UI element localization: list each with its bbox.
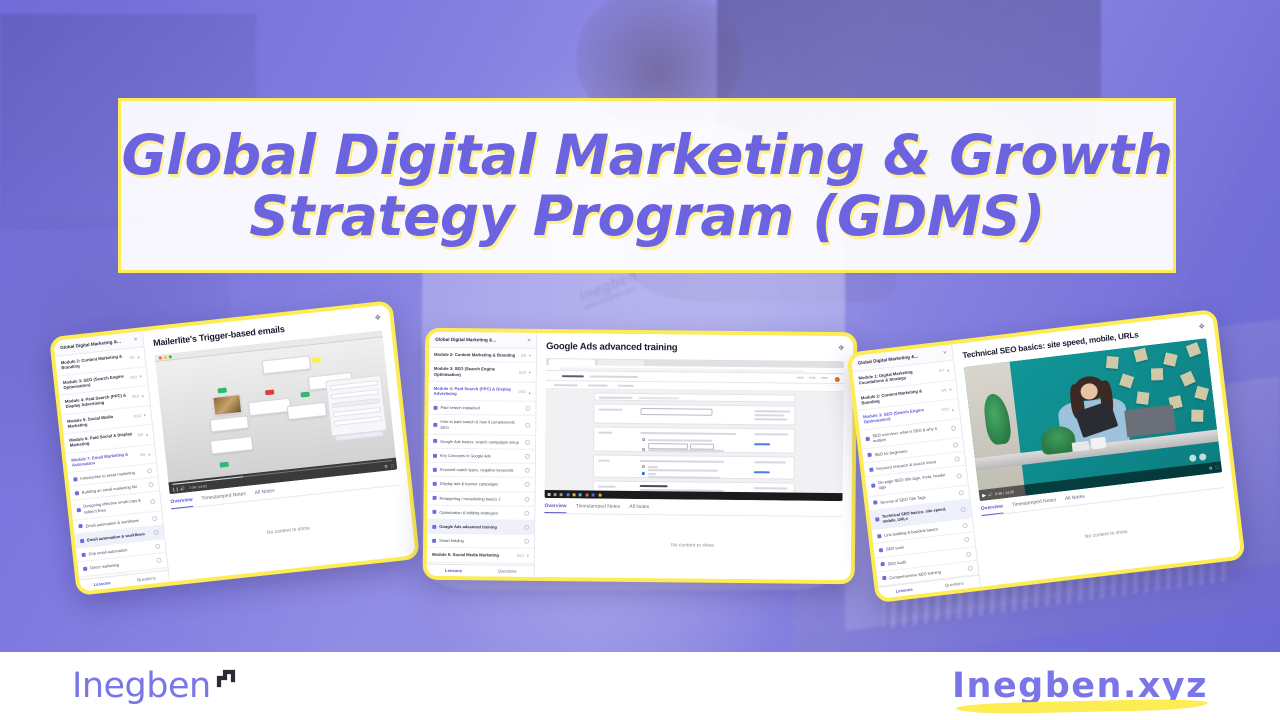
chevron-down-icon[interactable]: ▾ <box>146 432 149 437</box>
arrow-up-right-icon <box>213 665 239 696</box>
video-icon <box>81 552 85 556</box>
app-icon[interactable] <box>579 493 582 496</box>
video-icon <box>80 538 84 542</box>
lesson-label: Google Ads basics: search campaigns setu… <box>440 439 522 445</box>
video-icon <box>865 436 869 440</box>
screenshot-card-mailerlite[interactable]: Global Digital Marketing &... ✕ Module 2… <box>49 300 420 596</box>
video-icon <box>432 539 436 543</box>
module-label: Module 4: Paid Search (PPC) & Display Ad… <box>65 392 130 409</box>
radio-option[interactable] <box>642 465 645 468</box>
lesson-main-pane: Mailerlite's Trigger-based emails ✥ <box>143 305 416 582</box>
google-ads-browser-screen <box>545 358 844 501</box>
workflow-node <box>261 355 311 374</box>
workflow-settings-panel <box>325 375 387 437</box>
module-count: 0/10 <box>519 390 526 394</box>
chevron-up-icon[interactable]: ▴ <box>148 451 151 456</box>
video-icon <box>433 468 437 472</box>
module-row[interactable]: Module 5: Social Media Marketing 0/12 ▾ <box>427 548 534 563</box>
module-label: Module 2: Content Marketing & Branding <box>434 352 518 358</box>
lesson-label: Key Concepts in Google Ads <box>440 453 522 459</box>
lesson-label: Google Ads advanced training <box>439 524 521 530</box>
settings-gear-icon[interactable]: ⚙ <box>384 463 388 468</box>
workflow-image-node <box>212 394 243 416</box>
module-label: Module 5: Social Media Marketing <box>67 412 132 429</box>
sticky-note <box>1133 347 1148 362</box>
video-icon <box>879 548 883 552</box>
expand-icon[interactable]: ✥ <box>1198 322 1205 331</box>
sidebar-tab-questions[interactable]: Questions <box>124 571 169 587</box>
chevron-down-icon[interactable]: ▾ <box>947 368 950 373</box>
lesson-main-pane: Technical SEO basics: site speed, mobile… <box>952 313 1241 586</box>
form-section <box>594 393 796 403</box>
video-timestamp: 7:34 / 14:02 <box>189 484 207 490</box>
status-tag-yellow <box>312 357 321 363</box>
complete-toggle[interactable] <box>153 530 159 536</box>
complete-toggle[interactable] <box>951 426 957 432</box>
website-url[interactable]: Inegben.xyz <box>952 666 1208 706</box>
lesson-label: Retargeting / remarketing basics 1 <box>440 495 522 501</box>
status-tag-green <box>219 462 228 468</box>
video-icon <box>433 453 437 457</box>
expand-icon[interactable]: ✥ <box>374 313 381 322</box>
toolbar-icon[interactable] <box>797 377 804 378</box>
complete-toggle[interactable] <box>960 506 966 512</box>
complete-toggle[interactable] <box>956 473 962 479</box>
workflow-node <box>210 416 249 433</box>
form-section-value <box>593 427 795 454</box>
workflow-node <box>210 436 253 454</box>
video-icon <box>871 484 875 488</box>
video-icon <box>433 482 437 486</box>
module-label: Module 2: Content Marketing & Branding <box>61 353 128 371</box>
module-row[interactable]: Module 2: Content Marketing & Branding 0… <box>429 348 536 363</box>
complete-toggle[interactable] <box>155 544 161 550</box>
lesson-label: Intro to paid search & how it complement… <box>440 419 522 430</box>
complete-toggle[interactable] <box>954 456 960 462</box>
tab-all-notes[interactable]: All Notes <box>629 504 649 514</box>
lesson-row[interactable]: Intro to paid search & how it complement… <box>428 415 535 435</box>
video-icon <box>73 477 77 481</box>
complete-toggle[interactable] <box>964 537 970 543</box>
start-icon[interactable] <box>548 493 551 496</box>
module-count: 0/10 <box>132 394 139 399</box>
workflow-canvas <box>160 341 392 480</box>
sidebar-footer-tabs[interactable]: Lessons Questions <box>427 564 534 577</box>
brand-logo-text: Inegben <box>72 669 211 704</box>
module-count: 0/7 <box>939 369 944 374</box>
os-taskbar[interactable] <box>545 490 843 501</box>
fullscreen-icon[interactable]: ⛶ <box>1215 465 1218 470</box>
complete-toggle[interactable] <box>156 558 162 564</box>
video-icon <box>433 422 437 426</box>
video-icon <box>873 501 877 505</box>
complete-toggle[interactable] <box>525 454 530 459</box>
form-section-count <box>593 455 795 480</box>
lesson-main-pane: Google Ads advanced training ✥ <box>535 333 854 580</box>
course-title: Global Digital Marketing &... <box>857 354 918 366</box>
sticky-note <box>1136 391 1149 404</box>
video-icon <box>875 517 879 521</box>
step-label <box>554 384 578 386</box>
minimize-dot-icon <box>164 356 167 359</box>
video-player[interactable]: 🔊 0:46 / 14:25 ⚙ ⛶ <box>964 338 1222 501</box>
module-label: Module 3: SEO (Search Engine Optimisatio… <box>63 373 128 390</box>
chevron-down-icon[interactable]: ▾ <box>527 553 529 558</box>
status-tag-green <box>218 387 227 393</box>
video-icon <box>867 453 871 457</box>
lesson-row[interactable]: Keyword match types, negative keywords <box>428 463 535 478</box>
empty-state-message: No content to show. <box>544 514 843 576</box>
chevron-down-icon[interactable]: ▾ <box>137 354 140 359</box>
sidebar-list[interactable]: Module 2: Content Marketing & Branding 0… <box>427 348 536 565</box>
video-icon <box>433 439 437 443</box>
close-icon[interactable]: ✕ <box>527 338 531 344</box>
video-icon <box>432 524 436 528</box>
sidebar-tab-lessons[interactable]: Lessons <box>79 576 124 592</box>
video-thumbnail: 🔊 0:46 / 14:25 ⚙ ⛶ <box>964 338 1222 501</box>
page-title-card: Global Digital Marketing & Growth Strate… <box>118 98 1176 273</box>
play-icon[interactable] <box>982 494 986 498</box>
taskview-icon[interactable] <box>560 493 563 496</box>
module-label: Module 3: SEO (Search Engine Optimisatio… <box>434 366 516 377</box>
complete-toggle[interactable] <box>525 440 530 445</box>
footer-bar: Inegben Inegben.xyz <box>0 652 1280 720</box>
step-label <box>588 385 608 387</box>
chevron-down-icon[interactable]: ▾ <box>144 413 147 418</box>
tab-overview[interactable]: Overview <box>544 503 566 513</box>
folder-icon[interactable] <box>573 493 576 496</box>
module-count: 0/5 <box>941 388 946 393</box>
chevron-up-icon[interactable]: ▴ <box>529 389 531 394</box>
video-timestamp: 0:46 / 14:25 <box>995 490 1014 496</box>
mailerlite-workflow-screen: ❙❙ 🔊 7:34 / 14:02 ⚙ ⛶ <box>154 330 397 494</box>
video-icon <box>432 510 436 514</box>
toolbar-icon[interactable] <box>809 377 816 378</box>
complete-toggle[interactable] <box>962 523 968 529</box>
module-count: 0/10 <box>942 407 949 412</box>
complete-toggle[interactable] <box>966 551 972 557</box>
sticky-note <box>1105 356 1118 369</box>
browser-tab[interactable] <box>598 360 644 366</box>
workflow-node <box>286 402 327 420</box>
module-row-expanded[interactable]: Module 4: Paid Search (PPC) & Display Ad… <box>429 382 536 403</box>
laptop-device <box>1124 405 1176 438</box>
settings-gear-icon[interactable]: ⚙ <box>1209 466 1213 471</box>
module-label: Module 5: Social Media Marketing <box>432 552 514 558</box>
complete-toggle[interactable] <box>152 516 158 522</box>
chevron-down-icon[interactable]: ▾ <box>529 370 531 375</box>
complete-toggle[interactable] <box>147 468 153 474</box>
sidebar-tab-lessons[interactable]: Lessons <box>427 565 481 577</box>
lesson-row[interactable]: Google Ads basics: search campaigns setu… <box>428 435 535 450</box>
sidebar-tab-questions[interactable]: Questions <box>480 565 534 577</box>
lesson-row[interactable]: Retargeting / remarketing basics 1 <box>427 491 534 506</box>
course-title: Global Digital Marketing &... <box>60 339 121 351</box>
brand-logo[interactable]: Inegben <box>72 669 239 704</box>
radio-option-selected[interactable] <box>642 472 645 475</box>
video-icon <box>77 508 81 512</box>
search-icon[interactable] <box>554 493 557 496</box>
status-tag-green <box>300 391 309 397</box>
chrome-icon[interactable] <box>592 493 595 496</box>
module-count: 0/5 <box>129 356 134 361</box>
chevron-up-icon[interactable]: ▴ <box>951 406 954 411</box>
sidebar-header: Global Digital Marketing &... ✕ <box>429 332 536 349</box>
video-player[interactable] <box>545 358 844 501</box>
app-icon[interactable] <box>586 493 589 496</box>
lesson-row[interactable]: Smart bidding <box>427 534 534 549</box>
lesson-label: Smart bidding <box>439 538 521 544</box>
complete-toggle[interactable] <box>524 539 529 544</box>
complete-toggle[interactable] <box>524 511 529 516</box>
lesson-title: Google Ads advanced training <box>546 341 677 354</box>
lesson-label: Direct marketing <box>90 559 154 571</box>
page-title-line-2: Strategy Program (GDMS) <box>249 187 1045 245</box>
chevron-down-icon[interactable]: ▾ <box>139 374 142 379</box>
complete-toggle[interactable] <box>525 423 530 428</box>
workflow-node <box>248 398 291 416</box>
volume-icon[interactable]: 🔊 <box>988 491 994 497</box>
explorer-icon[interactable] <box>567 493 570 496</box>
lesson-label: Designing effective email copy & subject… <box>83 497 148 514</box>
complete-toggle[interactable] <box>958 490 964 496</box>
module-count: 0/10 <box>130 375 137 380</box>
video-icon <box>75 491 79 495</box>
chevron-down-icon[interactable]: ▾ <box>529 353 531 358</box>
status-tag-red <box>265 389 274 395</box>
complete-toggle[interactable] <box>525 496 530 501</box>
lesson-row[interactable]: Optimization & bidding strategies <box>427 506 534 521</box>
lesson-row[interactable]: Paid search explained <box>428 401 535 416</box>
avatar[interactable] <box>835 377 840 382</box>
tab-timestamped-notes[interactable]: Timestamped Notes <box>576 504 621 514</box>
video-icon <box>433 496 437 500</box>
sticky-note <box>1151 368 1163 380</box>
complete-toggle[interactable] <box>525 406 530 411</box>
fullscreen-icon[interactable]: ⛶ <box>391 463 394 468</box>
video-icon <box>882 576 886 580</box>
module-count: 0/5 <box>521 353 526 357</box>
toolbar-icon[interactable] <box>821 377 828 378</box>
video-icon <box>869 467 873 471</box>
complete-toggle[interactable] <box>953 442 959 448</box>
conversion-name-input[interactable] <box>640 408 712 416</box>
module-count: 0/9 <box>140 452 145 457</box>
module-label: Module 7: Email Marketing & Automation <box>71 450 138 468</box>
module-count: 0/12 <box>517 554 524 558</box>
form-section-conversion-name <box>593 404 795 426</box>
sticky-note <box>1191 410 1203 422</box>
module-count: 0/10 <box>519 370 526 374</box>
course-title: Global Digital Marketing &... <box>435 337 496 343</box>
coffee-mug <box>1090 437 1106 449</box>
complete-toggle[interactable] <box>525 468 530 473</box>
module-count: 0/12 <box>134 414 141 419</box>
complete-toggle[interactable] <box>524 525 529 530</box>
video-icon <box>433 406 437 410</box>
complete-toggle[interactable] <box>148 482 154 488</box>
module-row[interactable]: Module 3: SEO (Search Engine Optimisatio… <box>429 362 536 383</box>
lesson-label: Paid search explained <box>440 405 522 411</box>
page-title-line-1: Global Digital Marketing & Growth <box>121 126 1172 184</box>
lesson-label: Display ads & banner campaigns <box>440 481 522 487</box>
module-count: 0/8 <box>138 433 143 438</box>
lesson-label: Optimization & bidding strategies <box>439 510 521 516</box>
page-title-text <box>590 376 638 378</box>
volume-icon[interactable]: 🔊 <box>180 485 185 491</box>
course-sidebar[interactable]: Global Digital Marketing &... ✕ Module 2… <box>427 332 538 577</box>
lesson-row-active[interactable]: Google Ads advanced training <box>427 520 534 535</box>
complete-toggle[interactable] <box>150 499 156 505</box>
app-name-text <box>562 376 584 378</box>
chevron-down-icon[interactable]: ▾ <box>949 387 952 392</box>
complete-toggle[interactable] <box>525 482 530 487</box>
desk-box <box>1071 440 1089 451</box>
module-label: Module 6: Paid Social & Display Marketin… <box>69 431 136 449</box>
close-icon[interactable]: ✕ <box>943 350 948 356</box>
pause-icon[interactable]: ❙❙ <box>172 486 179 492</box>
lesson-row[interactable]: Key Concepts in Google Ads <box>428 449 535 464</box>
app-icon[interactable] <box>599 494 602 497</box>
video-icon <box>78 524 82 528</box>
video-player[interactable]: ❙❙ 🔊 7:34 / 14:02 ⚙ ⛶ <box>154 330 397 494</box>
lesson-header: Google Ads advanced training ✥ <box>546 341 844 356</box>
video-icon <box>877 534 881 538</box>
close-icon[interactable]: ✕ <box>133 337 138 343</box>
google-ads-form-body <box>545 389 844 493</box>
chevron-down-icon[interactable]: ▾ <box>142 393 145 398</box>
radio-option[interactable] <box>642 448 645 451</box>
lesson-label: Keyword match types, negative keywords <box>440 467 522 473</box>
expand-icon[interactable]: ✥ <box>838 344 844 352</box>
close-dot-icon <box>159 357 162 360</box>
video-icon <box>83 567 87 571</box>
screenshot-card-google-ads[interactable]: Global Digital Marketing &... ✕ Module 2… <box>423 328 858 585</box>
lesson-row[interactable]: Display ads & banner campaigns <box>428 477 535 492</box>
complete-toggle[interactable] <box>967 565 973 571</box>
radio-option[interactable] <box>642 438 645 441</box>
maximize-dot-icon <box>169 356 172 359</box>
screenshot-card-technical-seo[interactable]: Global Digital Marketing &... ✕ Module 1… <box>846 309 1245 603</box>
video-icon <box>880 562 884 566</box>
step-label <box>618 385 634 387</box>
module-label: Module 4: Paid Search (PPC) & Display Ad… <box>434 386 516 397</box>
